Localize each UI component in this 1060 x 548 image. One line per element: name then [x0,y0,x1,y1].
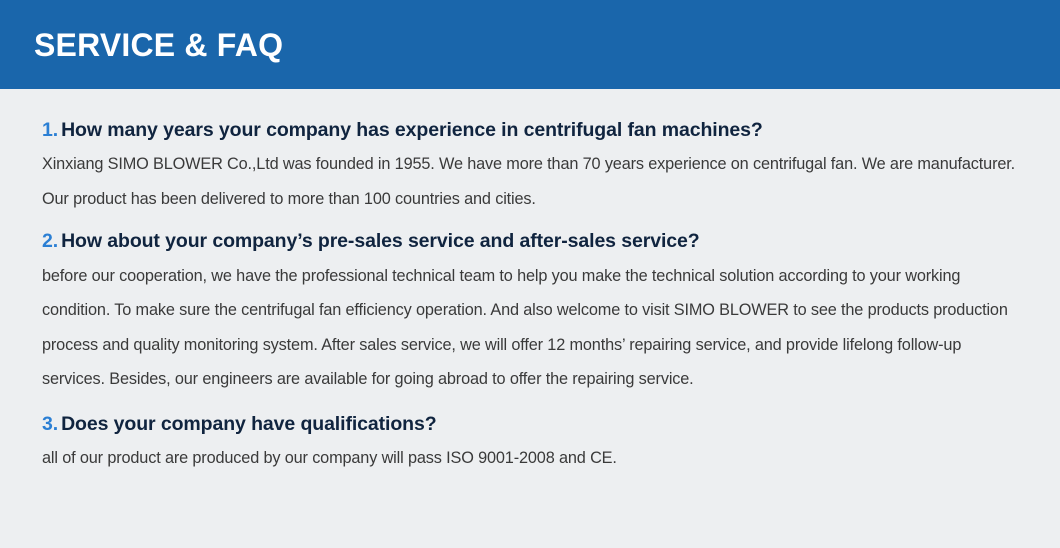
faq-question: 1.How many years your company has experi… [42,117,1020,143]
faq-question: 3.Does your company have qualifications? [42,411,1020,437]
faq-question-text: How about your company’s pre-sales servi… [61,230,700,252]
faq-answer: Xinxiang SIMO BLOWER Co.,Ltd was founded… [42,147,1017,216]
page-header-banner: SERVICE & FAQ [0,0,1060,89]
faq-item: 2.How about your company’s pre-sales ser… [42,228,1020,396]
faq-item: 1.How many years your company has experi… [42,117,1020,216]
faq-answer: before our cooperation, we have the prof… [42,259,1020,397]
faq-item: 3.Does your company have qualifications?… [42,411,1020,476]
faq-question-number: 3. [42,413,58,435]
faq-answer: all of our product are produced by our c… [42,441,1017,476]
faq-question-text: Does your company have qualifications? [61,413,436,435]
faq-question-number: 1. [42,119,58,141]
faq-content: 1.How many years your company has experi… [0,89,1060,548]
page-title: SERVICE & FAQ [0,29,283,61]
faq-question-text: How many years your company has experien… [61,119,763,141]
faq-question-number: 2. [42,230,58,252]
faq-page: SERVICE & FAQ 1.How many years your comp… [0,0,1060,548]
faq-question: 2.How about your company’s pre-sales ser… [42,228,1020,254]
